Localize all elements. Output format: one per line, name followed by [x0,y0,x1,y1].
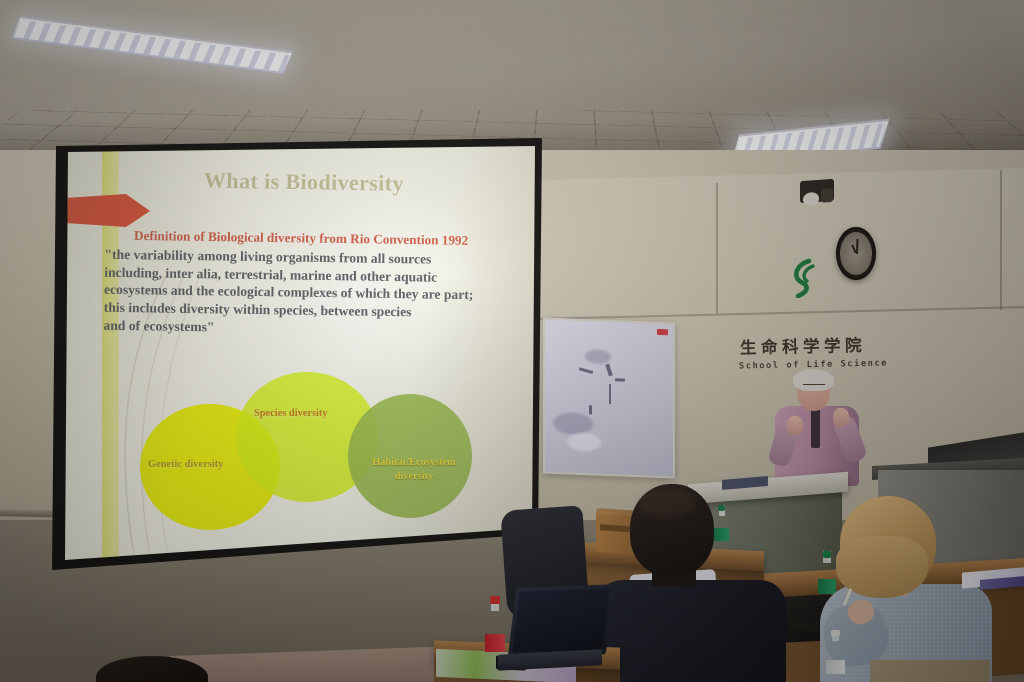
presenter-tie [811,408,820,448]
presenter-hand-left [787,416,803,435]
attendee-man-hair-highlight [638,488,696,518]
ceiling-camera-icon [800,179,834,203]
school-logo-icon [786,258,820,298]
attendee-woman-lap [870,660,990,682]
water-bottle [826,630,845,682]
venue-sign-chinese: 生命科学学院 [740,332,880,359]
water-bottle [485,596,505,664]
attendee-woman [818,496,998,682]
whiteboard-marker-icon [657,329,668,335]
presenter-glasses-icon [803,384,825,391]
presenter-hand-right [833,408,849,427]
laptop-screen [508,584,615,657]
whiteboard [543,317,675,478]
projection-screen: What is Biodiversity Definition of Biolo… [56,146,535,560]
wall-clock [836,227,876,280]
screen-vignette [56,146,535,560]
wall-seam [1000,170,1002,310]
clock-face [840,232,872,275]
presenter [763,372,879,490]
lecture-hall-photo: 生命科学学院 School of Life Science What is Bi… [0,0,1024,682]
wall-seam [716,183,718,313]
